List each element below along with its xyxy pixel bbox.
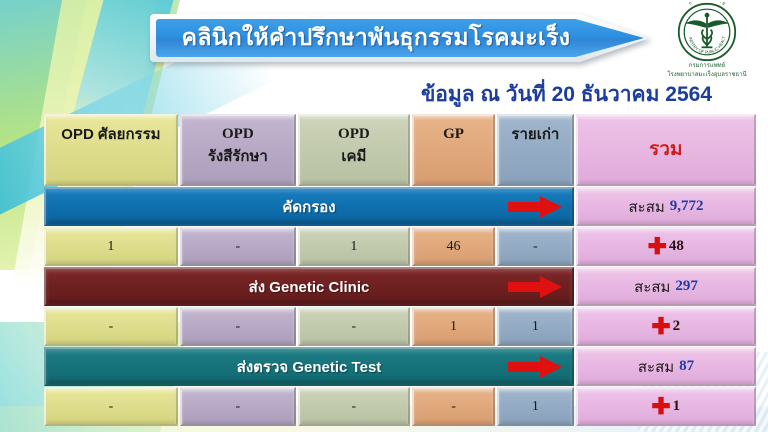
red-cross-icon: ✚ bbox=[651, 315, 670, 338]
table-row-screening-values: 1 - 1 46 - ✚ 48 bbox=[44, 227, 756, 266]
column-header-line1: OPD ศัลยกรรม bbox=[61, 125, 160, 145]
column-header-line1: OPD bbox=[338, 125, 370, 145]
cell-opd-radiotherapy: - bbox=[180, 307, 296, 346]
cell-new-total: ✚ 48 bbox=[576, 227, 756, 266]
cell-new-total: ✚ 1 bbox=[576, 387, 756, 426]
statistics-table: OPD ศัลยกรรม OPD รังสีรักษา OPD เคมี GP … bbox=[44, 114, 756, 427]
section-banner-label: คัดกรอง bbox=[282, 195, 335, 219]
cumulative-total-screening: สะสม 9,772 bbox=[576, 187, 756, 226]
section-banner-row-genetic-test: ส่งตรวจ Genetic Test สะสม 87 bbox=[44, 347, 756, 386]
cell-opd-chemo: - bbox=[298, 387, 410, 426]
title-banner-fill: คลินิกให้คำปรึกษาพันธุกรรมโรคมะเร็ง bbox=[156, 19, 644, 57]
cell-existing-cases: 1 bbox=[497, 387, 573, 426]
cell-opd-surgery: 1 bbox=[44, 227, 178, 266]
new-count: 2 bbox=[673, 318, 681, 335]
section-banner-genetic-test: ส่งตรวจ Genetic Test bbox=[44, 347, 574, 386]
section-banner-row-genetic-clinic: ส่ง Genetic Clinic สะสม 297 bbox=[44, 267, 756, 306]
section-banner-row-screening: คัดกรอง สะสม 9,772 bbox=[44, 187, 756, 226]
cell-opd-chemo: 1 bbox=[298, 227, 410, 266]
table-header-row: OPD ศัลยกรรม OPD รังสีรักษา OPD เคมี GP … bbox=[44, 114, 756, 186]
section-banner-screening: คัดกรอง bbox=[44, 187, 574, 226]
cell-gp: - bbox=[412, 387, 495, 426]
cumulative-label: สะสม bbox=[638, 355, 674, 379]
new-count: 1 bbox=[673, 398, 681, 415]
red-cross-icon: ✚ bbox=[651, 395, 670, 418]
new-count: 48 bbox=[669, 238, 684, 255]
column-header-opd-chemo: OPD เคมี bbox=[298, 114, 410, 186]
cumulative-label: สะสม bbox=[634, 275, 670, 299]
cumulative-total-genetic-test: สะสม 87 bbox=[576, 347, 756, 386]
column-header-line1: OPD bbox=[222, 125, 254, 145]
right-arrow-icon bbox=[508, 356, 562, 378]
section-banner-genetic-clinic: ส่ง Genetic Clinic bbox=[44, 267, 574, 306]
right-arrow-icon bbox=[508, 276, 562, 298]
cell-existing-cases: - bbox=[497, 227, 573, 266]
column-header-opd-surgery: OPD ศัลยกรรม bbox=[44, 114, 178, 186]
section-banner-label: ส่ง Genetic Clinic bbox=[249, 275, 370, 299]
cell-opd-surgery: - bbox=[44, 307, 178, 346]
cell-new-total: ✚ 2 bbox=[576, 307, 756, 346]
cumulative-total-genetic-clinic: สะสม 297 bbox=[576, 267, 756, 306]
ministry-logo: กระทรวงสาธารณสุข MINISTRY OF PUBLIC HEAL… bbox=[652, 2, 762, 79]
cumulative-value: 87 bbox=[679, 358, 694, 375]
cell-opd-chemo: - bbox=[298, 307, 410, 346]
column-header-existing-cases: รายเก่า bbox=[497, 114, 573, 186]
table-row-genetic-test-values: - - - - 1 ✚ 1 bbox=[44, 387, 756, 426]
cell-existing-cases: 1 bbox=[497, 307, 573, 346]
cumulative-value: 297 bbox=[675, 278, 698, 295]
cell-opd-radiotherapy: - bbox=[180, 387, 296, 426]
page-title: คลินิกให้คำปรึกษาพันธุกรรมโรคมะเร็ง bbox=[182, 20, 619, 56]
column-header-opd-radiotherapy: OPD รังสีรักษา bbox=[180, 114, 296, 186]
cell-gp: 1 bbox=[412, 307, 495, 346]
column-header-gp: GP bbox=[412, 114, 495, 186]
cell-opd-radiotherapy: - bbox=[180, 227, 296, 266]
red-cross-icon: ✚ bbox=[648, 235, 667, 258]
column-header-line1: รายเก่า bbox=[511, 125, 559, 145]
cell-gp: 46 bbox=[412, 227, 495, 266]
cell-opd-surgery: - bbox=[44, 387, 178, 426]
logo-caption-line1: กรมการแพทย์ bbox=[652, 63, 762, 71]
ministry-seal-icon: กระทรวงสาธารณสุข MINISTRY OF PUBLIC HEAL… bbox=[677, 2, 737, 62]
table-row-genetic-clinic-values: - - - 1 1 ✚ 2 bbox=[44, 307, 756, 346]
right-arrow-icon bbox=[508, 196, 562, 218]
column-header-total: รวม bbox=[576, 114, 756, 186]
column-header-line1: GP bbox=[443, 125, 464, 145]
title-banner: คลินิกให้คำปรึกษาพันธุกรรมโรคมะเร็ง bbox=[150, 14, 650, 62]
column-header-line2: เคมี bbox=[341, 147, 366, 167]
cumulative-label: สะสม bbox=[628, 195, 664, 219]
data-as-of-date: ข้อมูล ณ วันที่ 20 ธันวาคม 2564 bbox=[0, 78, 712, 111]
cumulative-value: 9,772 bbox=[670, 198, 704, 215]
section-banner-label: ส่งตรวจ Genetic Test bbox=[237, 355, 382, 379]
column-header-line2: รังสีรักษา bbox=[208, 147, 268, 167]
